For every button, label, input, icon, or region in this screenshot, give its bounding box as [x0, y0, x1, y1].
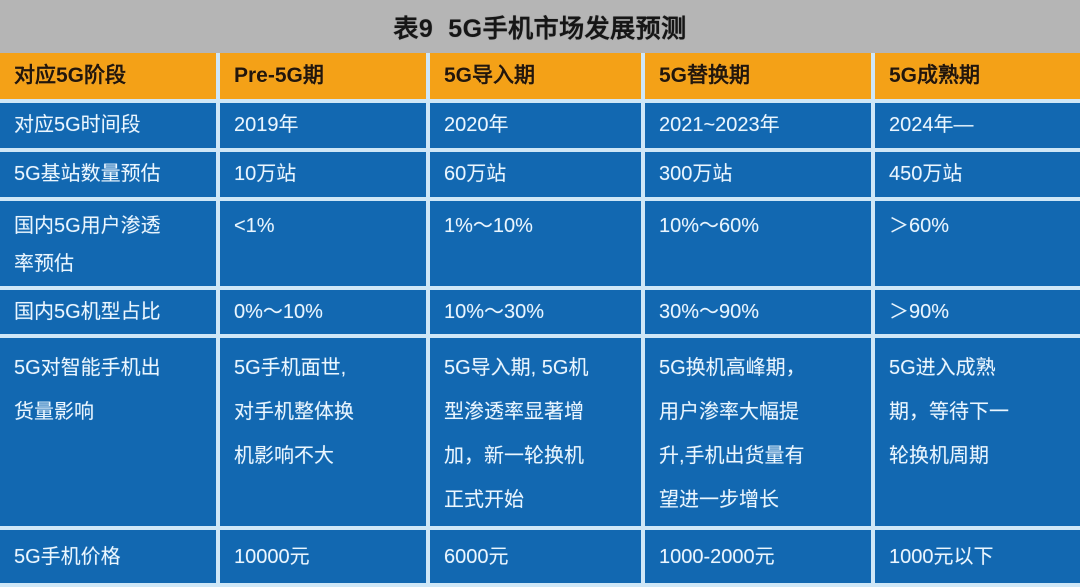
cell-time-period-replace: 2021~2023年 [645, 103, 875, 152]
cell-shipment-impact-intro: 5G导入期, 5G机型渗透率显著增加，新一轮换机正式开始 [430, 338, 645, 530]
cell-model-share-pre5g: 0%～10% [220, 290, 430, 338]
cell-text-line: 300万站 [659, 158, 861, 191]
cell-text-line: 1000元以下 [889, 546, 1070, 568]
cell-model-share-mature: ＞90% [875, 290, 1080, 338]
cell-text-line: 5G导入期, 5G机 [444, 346, 631, 390]
cell-text-line: 10%～60% [659, 207, 861, 245]
cell-text-line: 10000元 [234, 546, 416, 568]
column-header-stage: 对应5G阶段 [0, 53, 220, 103]
cell-user-penetration-mature: ＞60% [875, 201, 1080, 290]
table-row: 5G对智能手机出货量影响 5G手机面世,对手机整体换机影响不大 5G导入期, 5… [0, 338, 1080, 530]
cell-text-line: 10万站 [234, 158, 416, 191]
cell-text-line: 5G手机价格 [14, 546, 206, 568]
table-row: 国内5G用户渗透率预估 <1% 1%～10% 10%～60% ＞60% [0, 201, 1080, 290]
column-header-replace: 5G替换期 [645, 53, 875, 103]
column-header-mature: 5G成熟期 [875, 53, 1080, 103]
cell-shipment-impact-mature: 5G进入成熟期，等待下一轮换机周期 [875, 338, 1080, 530]
cell-text-line: 2020年 [444, 109, 631, 142]
cell-time-period-mature: 2024年— [875, 103, 1080, 152]
cell-base-stations-mature: 450万站 [875, 152, 1080, 201]
cell-price-intro: 6000元 [430, 530, 645, 587]
row-label-model-share: 国内5G机型占比 [0, 290, 220, 338]
cell-base-stations-intro: 60万站 [430, 152, 645, 201]
cell-shipment-impact-pre5g: 5G手机面世,对手机整体换机影响不大 [220, 338, 430, 530]
cell-text-line: 5G进入成熟 [889, 346, 1070, 390]
cell-user-penetration-intro: 1%～10% [430, 201, 645, 290]
cell-model-share-replace: 30%～90% [645, 290, 875, 338]
cell-text-line: 正式开始 [444, 478, 631, 522]
cell-text-line: 5G换机高峰期， [659, 346, 861, 390]
cell-time-period-intro: 2020年 [430, 103, 645, 152]
cell-text-line: 60万站 [444, 158, 631, 191]
cell-text-line: 0%～10% [234, 296, 416, 329]
cell-text-line: 加，新一轮换机 [444, 434, 631, 478]
cell-model-share-intro: 10%～30% [430, 290, 645, 338]
cell-text-line: 国内5G机型占比 [14, 296, 206, 329]
cell-text-line: 30%～90% [659, 296, 861, 329]
cell-text-line: 5G手机面世, [234, 346, 416, 390]
row-label-shipment-impact: 5G对智能手机出货量影响 [0, 338, 220, 530]
cell-text-line: 率预估 [14, 245, 206, 283]
table-figure: 表9 5G手机市场发展预测 对应5G阶段 Pre-5G期 5G导入期 5G替换期… [0, 0, 1080, 587]
cell-text-line: 10%～30% [444, 296, 631, 329]
cell-text-line: 轮换机周期 [889, 434, 1070, 478]
table-row: 5G手机价格 10000元 6000元 1000-2000元 1000元以下 [0, 530, 1080, 587]
cell-text-line: 国内5G用户渗透 [14, 207, 206, 245]
cell-price-mature: 1000元以下 [875, 530, 1080, 587]
cell-text-line: <1% [234, 207, 416, 245]
cell-time-period-pre5g: 2019年 [220, 103, 430, 152]
cell-text-line: 型渗透率显著增 [444, 390, 631, 434]
cell-user-penetration-replace: 10%～60% [645, 201, 875, 290]
table-row: 5G基站数量预估 10万站 60万站 300万站 450万站 [0, 152, 1080, 201]
cell-price-pre5g: 10000元 [220, 530, 430, 587]
cell-text-line: ＞90% [889, 296, 1070, 329]
cell-text-line: 5G对智能手机出 [14, 346, 206, 390]
cell-text-line: 5G基站数量预估 [14, 158, 206, 191]
row-label-price: 5G手机价格 [0, 530, 220, 587]
cell-text-line: 机影响不大 [234, 434, 416, 478]
figure-title-band: 表9 5G手机市场发展预测 [0, 0, 1080, 53]
cell-text-line: 期，等待下一 [889, 390, 1070, 434]
cell-text-line: 1000-2000元 [659, 546, 861, 568]
cell-text-line: 1%～10% [444, 207, 631, 245]
cell-price-replace: 1000-2000元 [645, 530, 875, 587]
cell-user-penetration-pre5g: <1% [220, 201, 430, 290]
cell-text-line: 2021~2023年 [659, 109, 861, 142]
forecast-table: 对应5G阶段 Pre-5G期 5G导入期 5G替换期 5G成熟期 对应5G时间段… [0, 53, 1080, 587]
table-header-row: 对应5G阶段 Pre-5G期 5G导入期 5G替换期 5G成熟期 [0, 53, 1080, 103]
cell-base-stations-replace: 300万站 [645, 152, 875, 201]
table-row: 国内5G机型占比 0%～10% 10%～30% 30%～90% ＞90% [0, 290, 1080, 338]
cell-base-stations-pre5g: 10万站 [220, 152, 430, 201]
row-label-base-stations: 5G基站数量预估 [0, 152, 220, 201]
table-row: 对应5G时间段 2019年 2020年 2021~2023年 2024年— [0, 103, 1080, 152]
cell-text-line: 货量影响 [14, 390, 206, 434]
cell-text-line: 升,手机出货量有 [659, 434, 861, 478]
cell-shipment-impact-replace: 5G换机高峰期，用户渗率大幅提升,手机出货量有望进一步增长 [645, 338, 875, 530]
cell-text-line: 2024年— [889, 109, 1070, 142]
cell-text-line: 6000元 [444, 546, 631, 568]
page-title: 表9 5G手机市场发展预测 [393, 9, 686, 45]
column-header-intro: 5G导入期 [430, 53, 645, 103]
cell-text-line: 对应5G时间段 [14, 109, 206, 142]
cell-text-line: 用户渗率大幅提 [659, 390, 861, 434]
row-label-time-period: 对应5G时间段 [0, 103, 220, 152]
cell-text-line: 对手机整体换 [234, 390, 416, 434]
row-label-user-penetration: 国内5G用户渗透率预估 [0, 201, 220, 290]
cell-text-line: 450万站 [889, 158, 1070, 191]
column-header-pre5g: Pre-5G期 [220, 53, 430, 103]
cell-text-line: 2019年 [234, 109, 416, 142]
cell-text-line: 望进一步增长 [659, 478, 861, 522]
cell-text-line: ＞60% [889, 207, 1070, 245]
